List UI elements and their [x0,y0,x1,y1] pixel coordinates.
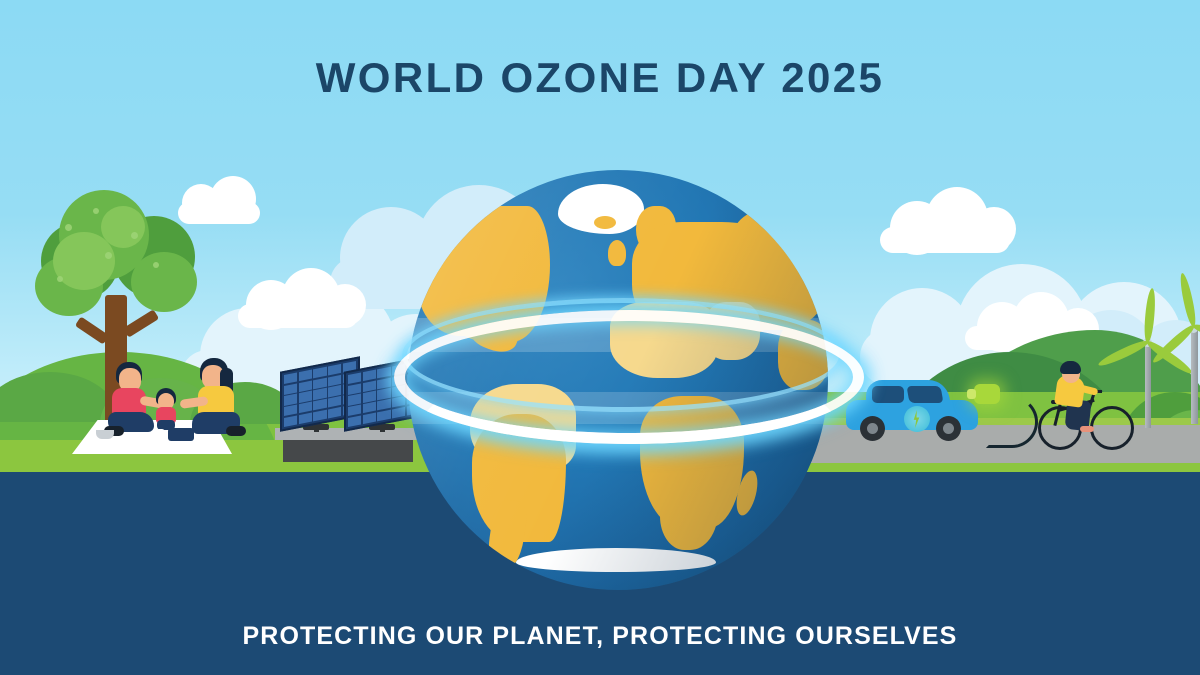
cyclist-shoe [1080,426,1094,432]
picnic-basket [168,428,194,441]
turbine-tower-2 [1191,328,1198,424]
tree-dot-1 [65,224,72,231]
tree-dot-4 [153,262,159,268]
tree-dot-5 [57,276,63,282]
ev-bolt-emblem [904,406,930,432]
car-wheel-front [936,416,961,441]
tree-foliage-7 [101,206,145,248]
poster-canvas: WORLD OZONE DAY 2025 PROTECTING OUR PLAN… [0,0,1200,675]
tree-foliage-5 [131,252,197,312]
tree-branch-right [123,309,159,337]
car-window-front [907,386,944,403]
picnic-mother [186,358,244,436]
tree-dot-2 [93,208,99,214]
cyclist-hair [1060,361,1081,374]
page-title: WORLD OZONE DAY 2025 [0,54,1200,102]
cyclist [1038,370,1134,446]
page-subtitle: PROTECTING OUR PLANET, PROTECTING OURSEL… [0,622,1200,651]
tree-dot-3 [131,232,138,239]
tree-dot-6 [105,252,112,259]
picnic-bowl [96,430,114,439]
bike-wheel-front [1090,406,1134,450]
car-wheel-rear [860,416,885,441]
turbine-tower-1 [1145,342,1151,428]
ozone-layer-ring-front [394,310,864,444]
earth-globe [408,170,828,590]
wind-turbine-2 [1164,282,1200,412]
solar-base-block [283,438,413,462]
charging-plug-icon [974,384,1000,404]
electric-car [846,378,996,440]
car-window-rear [872,386,904,403]
